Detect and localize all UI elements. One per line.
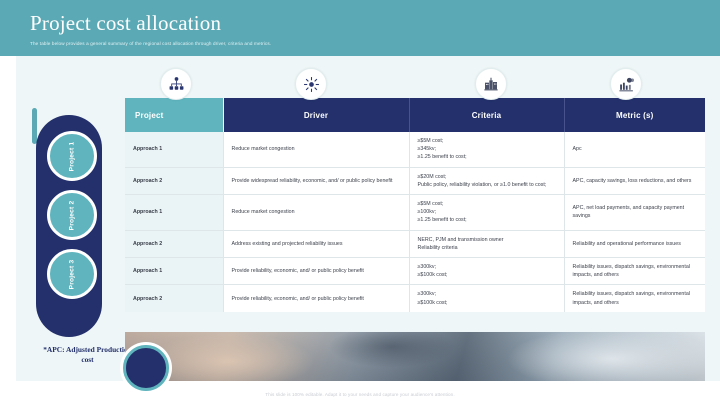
cell-project: Approach 2 (125, 285, 223, 312)
criteria-line: ≥$100k cost; (418, 299, 556, 307)
decorative-photo (125, 332, 705, 381)
criteria-line: ≥$5M cost; (418, 137, 556, 145)
criteria-line: Reliability criteria (418, 244, 556, 252)
table-row: Approach 1 Provide reliability, economic… (125, 258, 705, 285)
table-row: Approach 2 Address existing and projecte… (125, 230, 705, 257)
project-circle-2-label: Project 2 (69, 200, 76, 230)
table-row: Approach 1 Reduce market congestion ≥$5M… (125, 132, 705, 167)
criteria-line: ≥300kv; (418, 263, 556, 271)
cell-project: Approach 2 (125, 230, 223, 257)
column-header-metric: Metric (s) (564, 98, 705, 132)
cell-criteria: ≥$20M cost; Public policy, reliability v… (409, 167, 564, 194)
criteria-line: ≥$5M cost; (418, 200, 556, 208)
column-header-driver: Driver (223, 98, 409, 132)
cell-criteria: ≥$5M cost; ≥345kv; ≥1.25 benefit to cost… (409, 132, 564, 167)
page-subtitle: The table below provides a general summa… (30, 41, 271, 46)
cell-driver: Reduce market congestion (223, 132, 409, 167)
cell-driver: Provide reliability, economic, and/ or p… (223, 258, 409, 285)
table-row: Approach 2 Provide reliability, economic… (125, 285, 705, 312)
project-circle-3-label: Project 3 (69, 259, 76, 289)
project-circle-2[interactable]: Project 2 (47, 190, 97, 240)
column-header-project: Project (125, 98, 223, 132)
cell-driver: Reduce market congestion (223, 195, 409, 231)
factory-building-icon (475, 68, 507, 100)
criteria-line: ≥300kv; (418, 290, 556, 298)
cell-metric: APC, net load payments, and capacity pay… (564, 195, 705, 231)
cell-metric: Reliability issues, dispatch savings, en… (564, 285, 705, 312)
cell-metric: Apc (564, 132, 705, 167)
analytics-chart-icon (610, 68, 642, 100)
cell-criteria: ≥300kv; ≥$100k cost; (409, 285, 564, 312)
cell-driver: Address existing and projected reliabili… (223, 230, 409, 257)
criteria-line: ≥$20M cost; (418, 173, 556, 181)
cell-project: Approach 2 (125, 167, 223, 194)
left-white-strip (0, 56, 16, 381)
table-row: Approach 2 Provide widespread reliabilit… (125, 167, 705, 194)
cost-allocation-table: Project Driver Criteria Metric (s) Appro… (125, 98, 705, 312)
table-header-row: Project Driver Criteria Metric (s) (125, 98, 705, 132)
cell-project: Approach 1 (125, 195, 223, 231)
criteria-line: ≥345kv; (418, 145, 556, 153)
slide: Project cost allocation The table below … (0, 0, 720, 404)
page-title: Project cost allocation (30, 11, 221, 36)
sun-burst-icon (295, 68, 327, 100)
project-circle-3[interactable]: Project 3 (47, 249, 97, 299)
project-circle-1-label: Project 1 (69, 141, 76, 171)
cell-project: Approach 1 (125, 132, 223, 167)
cell-criteria: ≥300kv; ≥$100k cost; (409, 258, 564, 285)
org-chart-icon (160, 68, 192, 100)
criteria-line: ≥100kv; (418, 208, 556, 216)
slide-header: Project cost allocation The table below … (0, 0, 720, 56)
footnote: *APC: Adjusted Production cost (40, 345, 135, 365)
column-header-criteria: Criteria (409, 98, 564, 132)
criteria-line: ≥$100k cost; (418, 271, 556, 279)
cell-criteria: NERC, PJM and transmission owner Reliabi… (409, 230, 564, 257)
criteria-line: ≥1.25 benefit to cost; (418, 216, 556, 224)
photo-accent-ring (123, 345, 169, 391)
footer-note: This slide is 100% editable. Adapt it to… (0, 392, 720, 397)
cell-metric: Reliability issues, dispatch savings, en… (564, 258, 705, 285)
cell-metric: Reliability and operational performance … (564, 230, 705, 257)
criteria-line: Public policy, reliability violation, or… (418, 181, 556, 189)
cell-driver: Provide widespread reliability, economic… (223, 167, 409, 194)
cell-project: Approach 1 (125, 258, 223, 285)
project-circle-1[interactable]: Project 1 (47, 131, 97, 181)
cell-driver: Provide reliability, economic, and/ or p… (223, 285, 409, 312)
criteria-line: ≥1.25 benefit to cost; (418, 153, 556, 161)
criteria-line: NERC, PJM and transmission owner (418, 236, 556, 244)
table-row: Approach 1 Reduce market congestion ≥$5M… (125, 195, 705, 231)
cell-metric: APC, capacity savings, loss reductions, … (564, 167, 705, 194)
cell-criteria: ≥$5M cost; ≥100kv; ≥1.25 benefit to cost… (409, 195, 564, 231)
